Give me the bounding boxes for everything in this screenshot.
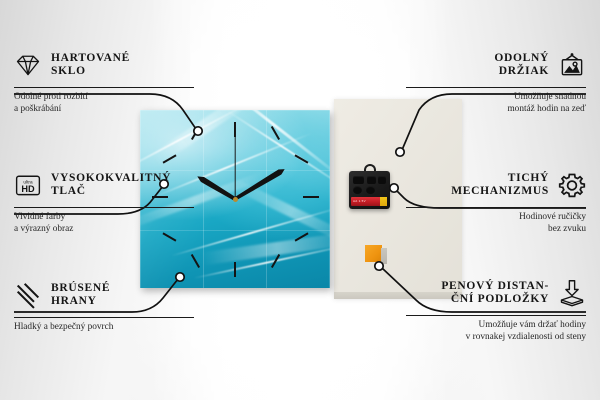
feature-rule (14, 87, 194, 88)
feature-description: Umožňuje snadnou montáž hodin na zeď (406, 92, 586, 115)
feature-durable-holder[interactable]: ODOLNÝ DRŽIAK Umožňuje snadnou montáž ho… (406, 48, 586, 115)
feature-rule (14, 207, 194, 208)
feature-description: Hladký a bezpečný povrch (14, 322, 194, 334)
feature-title: PENOVÝ DISTAN- ČNÍ PODLOŽKY (441, 280, 549, 307)
diagonal-lines-icon (14, 281, 42, 309)
feature-rule (406, 207, 586, 208)
feature-title: BRÚSENÉ HRANY (51, 282, 110, 309)
connector-endpoint-tempered-glass (194, 127, 202, 135)
feature-header: TICHÝ MECHANIZMUS (406, 168, 586, 202)
feature-header: PENOVÝ DISTAN- ČNÍ PODLOŽKY (406, 276, 586, 310)
hanging-frame-icon (558, 51, 586, 79)
feature-silent-mechanism[interactable]: TICHÝ MECHANIZMUS Hodinové ručičky bez z… (406, 168, 586, 235)
svg-text:HD: HD (21, 184, 35, 194)
connector-endpoint-spacers (375, 262, 383, 270)
feature-foam-spacers[interactable]: PENOVÝ DISTAN- ČNÍ PODLOŽKY Umožňuje vám… (406, 276, 586, 343)
feature-tempered-glass[interactable]: HARTOVANÉ SKLO Odolné proti rozbití a po… (14, 48, 194, 115)
feature-description: Hodinové ručičky bez zvuku (406, 212, 586, 235)
feature-description: Umožňuje vám držať hodiny v rovnakej vzd… (406, 320, 586, 343)
arrow-onto-pad-icon (558, 279, 586, 307)
feature-title: TICHÝ MECHANIZMUS (451, 172, 549, 199)
feature-rule (14, 317, 194, 318)
ultra-hd-icon: ultra HD (14, 171, 42, 199)
feature-polished-edges[interactable]: BRÚSENÉ HRANY Hladký a bezpečný povrch (14, 278, 194, 334)
feature-header: BRÚSENÉ HRANY (14, 278, 194, 312)
feature-description: Odolné proti rozbití a poškrábání (14, 92, 194, 115)
feature-rule (406, 315, 586, 316)
feature-header: HARTOVANÉ SKLO (14, 48, 194, 82)
feature-header: ODOLNÝ DRŽIAK (406, 48, 586, 82)
feature-description: Vividné farby a výrazný obraz (14, 212, 194, 235)
feature-rule (406, 87, 586, 88)
connector-endpoint-holder (396, 148, 404, 156)
feature-title: HARTOVANÉ SKLO (51, 52, 130, 79)
gear-icon (558, 171, 586, 199)
diamond-icon (14, 51, 42, 79)
feature-high-quality-print[interactable]: ultra HD VYSOKOKVALITNÝ TLAČ Vividné far… (14, 168, 194, 235)
feature-title: ODOLNÝ DRŽIAK (494, 52, 549, 79)
feature-header: ultra HD VYSOKOKVALITNÝ TLAČ (14, 168, 194, 202)
connector-endpoint-mechanism (390, 184, 398, 192)
feature-title: VYSOKOKVALITNÝ TLAČ (51, 172, 171, 199)
